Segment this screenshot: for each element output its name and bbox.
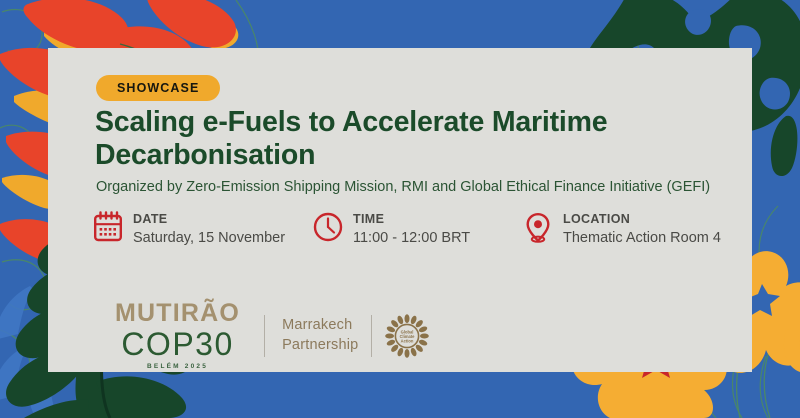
logo-divider-1 xyxy=(264,315,265,357)
location-pin-icon xyxy=(523,211,553,243)
event-location-item: LOCATION Thematic Action Room 4 xyxy=(523,211,743,248)
event-card: SHOWCASE Scaling e-Fuels to Accelerate M… xyxy=(48,48,752,372)
event-title-line-2: Decarbonisation xyxy=(95,139,315,171)
event-title-line-1: Scaling e-Fuels to Accelerate Maritime xyxy=(95,106,607,138)
event-details-row: DATE Saturday, 15 November TIME 11:00 - … xyxy=(93,211,753,248)
mutirao-cop30-logo: MUTIRÃO COP30 BELÉM 2025 xyxy=(115,301,240,371)
global-climate-action-seal-icon: Global Climate Action xyxy=(385,314,429,358)
event-date-value: Saturday, 15 November xyxy=(133,229,285,249)
event-time-value: 11:00 - 12:00 BRT xyxy=(353,229,470,249)
logo-row: MUTIRÃO COP30 BELÉM 2025 Marrakech Partn… xyxy=(115,301,429,371)
marrakech-line-1: Marrakech xyxy=(282,316,358,336)
event-date-label: DATE xyxy=(133,212,285,228)
logo-divider-2 xyxy=(371,315,372,357)
belem-2025-wordmark: BELÉM 2025 xyxy=(115,364,240,371)
seal-line-3: Action xyxy=(401,338,414,343)
event-organizer: Organized by Zero-Emission Shipping Miss… xyxy=(96,178,746,197)
event-location-value: Thematic Action Room 4 xyxy=(563,229,721,249)
showcase-badge: SHOWCASE xyxy=(96,75,220,101)
marrakech-line-2: Partnership xyxy=(282,336,358,356)
mutirao-wordmark: MUTIRÃO xyxy=(115,301,240,326)
event-location-label: LOCATION xyxy=(563,212,721,228)
event-poster: SHOWCASE Scaling e-Fuels to Accelerate M… xyxy=(0,0,800,418)
event-location-text: LOCATION Thematic Action Room 4 xyxy=(563,211,721,248)
event-time-label: TIME xyxy=(353,212,470,228)
event-time-item: TIME 11:00 - 12:00 BRT xyxy=(313,211,523,248)
event-date-item: DATE Saturday, 15 November xyxy=(93,211,313,248)
event-date-text: DATE Saturday, 15 November xyxy=(133,211,285,248)
calendar-icon xyxy=(93,211,123,243)
cop30-wordmark: COP30 xyxy=(115,328,240,360)
marrakech-partnership-wordmark: Marrakech Partnership xyxy=(282,316,358,355)
clock-icon xyxy=(313,211,343,243)
event-time-text: TIME 11:00 - 12:00 BRT xyxy=(353,211,470,248)
event-title: Scaling e-Fuels to Accelerate Maritime D… xyxy=(95,106,715,173)
